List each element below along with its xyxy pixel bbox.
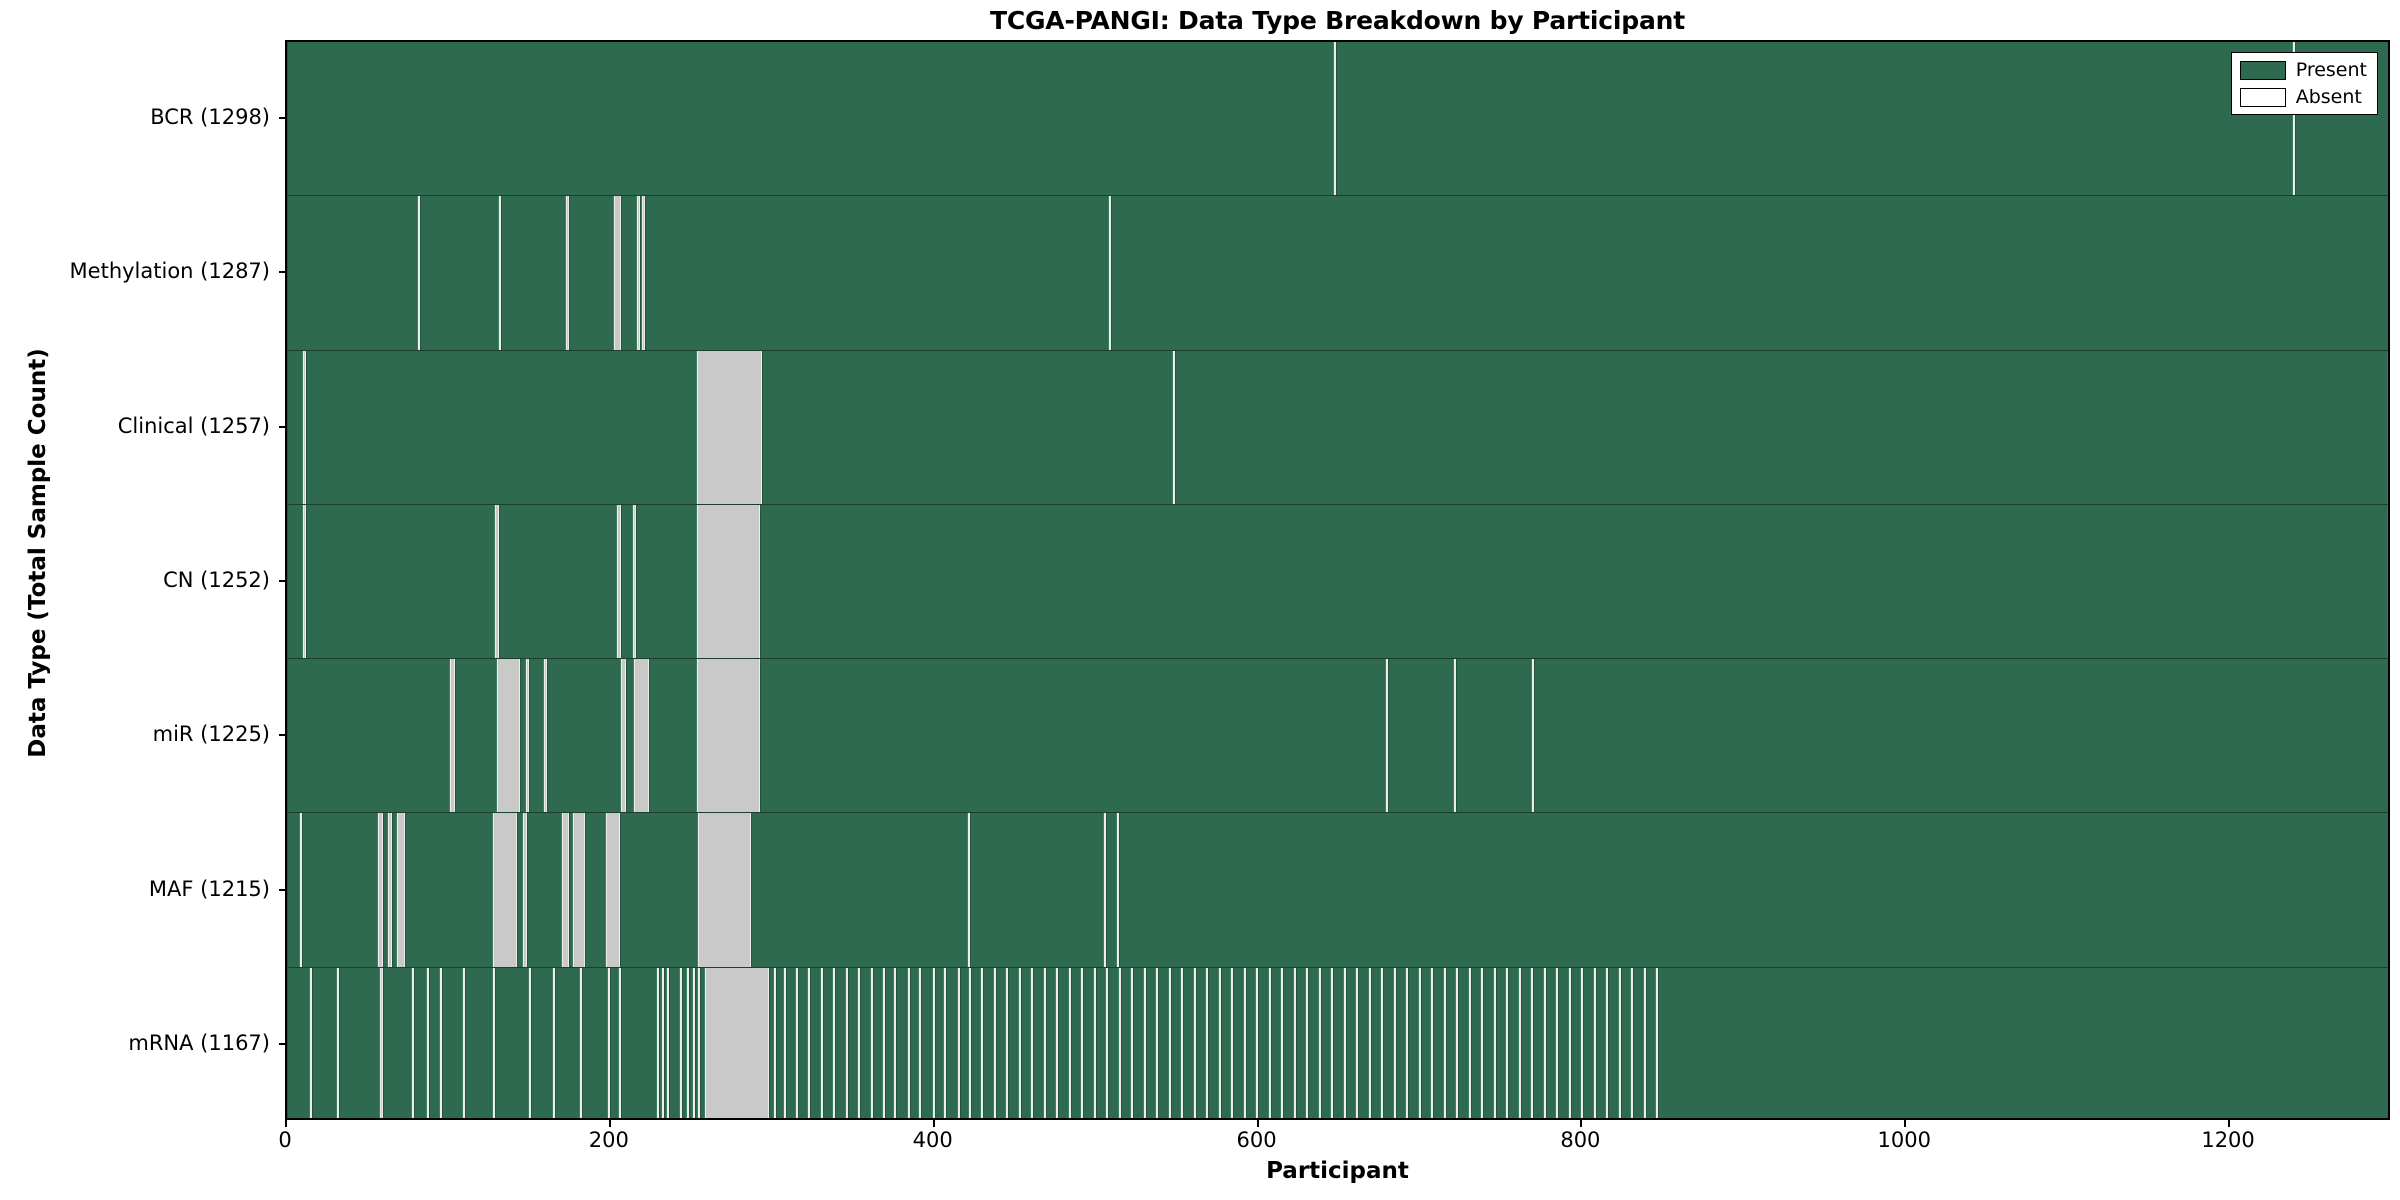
cell-present <box>896 968 907 1120</box>
cell-present <box>946 968 957 1120</box>
cell-present <box>1608 968 1619 1120</box>
cell-present <box>970 813 1104 966</box>
cell-present <box>1433 968 1444 1120</box>
chart-legend[interactable]: Present Absent <box>2231 52 2378 115</box>
x-tick-mark <box>609 1120 611 1127</box>
cell-present <box>1108 968 1119 1120</box>
cell-present <box>1133 968 1144 1120</box>
cell-present <box>1446 968 1456 1120</box>
y-tick-mark <box>279 271 286 273</box>
cell-present <box>1571 968 1581 1120</box>
cell-present <box>860 968 871 1120</box>
cell-present <box>1046 968 1056 1120</box>
cell-present <box>1175 351 2389 504</box>
cell-present <box>1456 659 1532 812</box>
cell-present <box>1146 968 1156 1120</box>
cell-present <box>1111 196 2389 349</box>
x-tick-mark <box>933 1120 935 1127</box>
cell-present <box>585 813 606 966</box>
cell-present <box>1658 968 2390 1120</box>
cell-present <box>1308 968 1319 1120</box>
cell-present <box>1296 968 1306 1120</box>
cell-present <box>501 196 566 349</box>
cell-present <box>960 968 970 1120</box>
cell-present <box>848 968 858 1120</box>
cell-present <box>1258 968 1269 1120</box>
y-tick-mark <box>279 426 286 428</box>
chart-title: TCGA-PANGI: Data Type Breakdown by Parti… <box>285 6 2390 35</box>
cell-present <box>547 659 621 812</box>
cell-present <box>420 196 499 349</box>
x-tick-mark <box>1257 1120 1259 1127</box>
y-tick-mark <box>279 889 286 891</box>
y-tick-label-bcr: BCR (1298) <box>0 105 270 129</box>
cell-present <box>835 968 846 1120</box>
cell-present <box>465 968 492 1120</box>
x-axis-title: Participant <box>285 1158 2390 1184</box>
cell-present <box>810 968 821 1120</box>
cell-present <box>1333 968 1344 1120</box>
cell-present <box>531 968 554 1120</box>
cell-present <box>1534 659 2389 812</box>
figure-canvas: TCGA-PANGI: Data Type Breakdown by Parti… <box>0 0 2400 1200</box>
cell-present <box>1558 968 1569 1120</box>
cell-present <box>1633 968 1644 1120</box>
cell-present <box>873 968 883 1120</box>
cell-present <box>610 968 620 1120</box>
cell-present <box>302 813 378 966</box>
cell-present <box>1483 968 1494 1120</box>
cell-present <box>1121 968 1131 1120</box>
cell-present <box>786 968 796 1120</box>
cell-present <box>1496 968 1506 1120</box>
y-tick-mark <box>279 734 286 736</box>
cell-present <box>414 968 427 1120</box>
y-axis-title: Data Type (Total Sample Count) <box>25 253 51 853</box>
cell-present <box>935 968 945 1120</box>
cell-present <box>669 968 680 1120</box>
cell-present <box>405 813 492 966</box>
cell-present <box>287 42 1334 195</box>
cell-present <box>1346 968 1356 1120</box>
cell-present <box>620 813 698 966</box>
cell-present <box>626 659 634 812</box>
cell-present <box>1106 813 1117 966</box>
x-tick-mark <box>1904 1120 1906 1127</box>
cell-present <box>287 505 303 658</box>
heatmap-row-bcr <box>287 42 2388 196</box>
cell-present <box>971 968 981 1120</box>
x-tick-label: 400 <box>913 1128 953 1152</box>
cell-present <box>983 968 994 1120</box>
cell-present <box>1396 968 1406 1120</box>
cell-present <box>1533 968 1544 1120</box>
y-tick-mark <box>279 117 286 119</box>
x-tick-label: 1000 <box>1877 1128 1930 1152</box>
cell-present <box>529 659 544 812</box>
cell-present <box>287 351 303 504</box>
cell-present <box>383 968 412 1120</box>
cell-present <box>429 968 440 1120</box>
x-tick-label: 1200 <box>2201 1128 2254 1152</box>
cell-present <box>499 505 617 658</box>
cell-absent <box>606 813 621 966</box>
cell-present <box>1119 813 2389 966</box>
cell-present <box>1221 968 1231 1120</box>
legend-label-absent: Absent <box>2296 86 2362 108</box>
cell-present <box>1383 968 1394 1120</box>
cell-present <box>1521 968 1531 1120</box>
cell-present <box>1008 968 1019 1120</box>
cell-present <box>1183 968 1194 1120</box>
x-tick-label: 200 <box>589 1128 629 1152</box>
cell-present <box>306 505 495 658</box>
cell-present <box>1358 968 1369 1120</box>
cell-present <box>1021 968 1031 1120</box>
cell-present <box>823 968 833 1120</box>
cell-present <box>582 968 608 1120</box>
cell-present <box>1083 968 1094 1120</box>
y-tick-label-maf: MAF (1215) <box>0 877 270 901</box>
cell-absent <box>697 505 760 658</box>
cell-present <box>495 968 529 1120</box>
cell-present <box>287 968 310 1120</box>
cell-present <box>1096 968 1106 1120</box>
x-tick-mark <box>285 1120 287 1127</box>
cell-present <box>1646 968 1656 1120</box>
cell-absent <box>697 351 762 504</box>
x-tick-mark <box>1580 1120 1582 1127</box>
cell-absent <box>705 968 770 1120</box>
cell-present <box>1471 968 1481 1120</box>
cell-present <box>621 968 657 1120</box>
cell-present <box>751 813 968 966</box>
legend-entry-absent: Absent <box>2240 86 2367 108</box>
cell-absent <box>573 813 584 966</box>
cell-present <box>287 813 300 966</box>
heatmap-row-mrna <box>287 968 2388 1120</box>
cell-present <box>798 968 808 1120</box>
cell-present <box>762 351 1173 504</box>
cell-present <box>1508 968 1519 1120</box>
cell-present <box>1283 968 1294 1120</box>
y-tick-mark <box>279 580 286 582</box>
cell-present <box>910 968 920 1120</box>
cell-present <box>1158 968 1169 1120</box>
cell-present <box>1596 968 1606 1120</box>
cell-present <box>1621 968 1631 1120</box>
cell-present <box>455 659 497 812</box>
cell-present <box>339 968 379 1120</box>
cell-present <box>885 968 895 1120</box>
cell-present <box>1233 968 1244 1120</box>
cell-absent <box>497 659 520 812</box>
cell-present <box>1321 968 1331 1120</box>
legend-swatch-present-icon <box>2240 61 2286 80</box>
cell-present <box>645 196 1109 349</box>
cell-present <box>1033 968 1044 1120</box>
cell-present <box>636 505 697 658</box>
cell-present <box>527 813 563 966</box>
cell-present <box>649 659 697 812</box>
cell-present <box>442 968 463 1120</box>
cell-present <box>1388 659 1454 812</box>
cell-absent <box>397 813 405 966</box>
heatmap-row-methylation <box>287 196 2388 350</box>
cell-present <box>760 659 1385 812</box>
cell-present <box>287 196 418 349</box>
y-tick-label-mrna: mRNA (1167) <box>0 1031 270 1055</box>
heatmap-row-maf <box>287 813 2388 967</box>
cell-present <box>1246 968 1256 1120</box>
cell-absent <box>697 659 760 812</box>
heatmap-row-cn <box>287 505 2388 659</box>
cell-present <box>1458 968 1469 1120</box>
cell-present <box>921 968 932 1120</box>
x-tick-label: 600 <box>1236 1128 1276 1152</box>
y-tick-mark <box>279 1043 286 1045</box>
cell-present <box>1336 42 2293 195</box>
heatmap-row-clinical <box>287 351 2388 505</box>
cell-present <box>1271 968 1281 1120</box>
legend-swatch-absent-icon <box>2240 88 2286 107</box>
cell-absent <box>634 659 649 812</box>
cell-present <box>1546 968 1556 1120</box>
cell-present <box>312 968 338 1120</box>
heatmap-row-mir <box>287 659 2388 813</box>
cell-present <box>760 505 2387 658</box>
cell-present <box>621 505 632 658</box>
cell-present <box>287 659 450 812</box>
cell-present <box>1583 968 1594 1120</box>
legend-entry-present: Present <box>2240 59 2367 81</box>
cell-present <box>569 196 614 349</box>
cell-present <box>1171 968 1181 1120</box>
x-tick-mark <box>2228 1120 2230 1127</box>
cell-present <box>1196 968 1206 1120</box>
cell-present <box>1058 968 1069 1120</box>
x-tick-label: 0 <box>278 1128 291 1152</box>
heatmap-plot-area[interactable]: Present Absent <box>285 40 2390 1120</box>
cell-present <box>1208 968 1219 1120</box>
cell-present <box>1408 968 1419 1120</box>
x-tick-label: 800 <box>1560 1128 1600 1152</box>
cell-present <box>1421 968 1431 1120</box>
cell-present <box>996 968 1006 1120</box>
cell-absent <box>493 813 517 966</box>
legend-label-present: Present <box>2296 59 2367 81</box>
cell-present <box>1371 968 1381 1120</box>
cell-present <box>621 196 637 349</box>
cell-absent <box>698 813 751 966</box>
cell-present <box>306 351 697 504</box>
cell-present <box>555 968 579 1120</box>
cell-present <box>776 968 784 1120</box>
cell-present <box>1071 968 1081 1120</box>
